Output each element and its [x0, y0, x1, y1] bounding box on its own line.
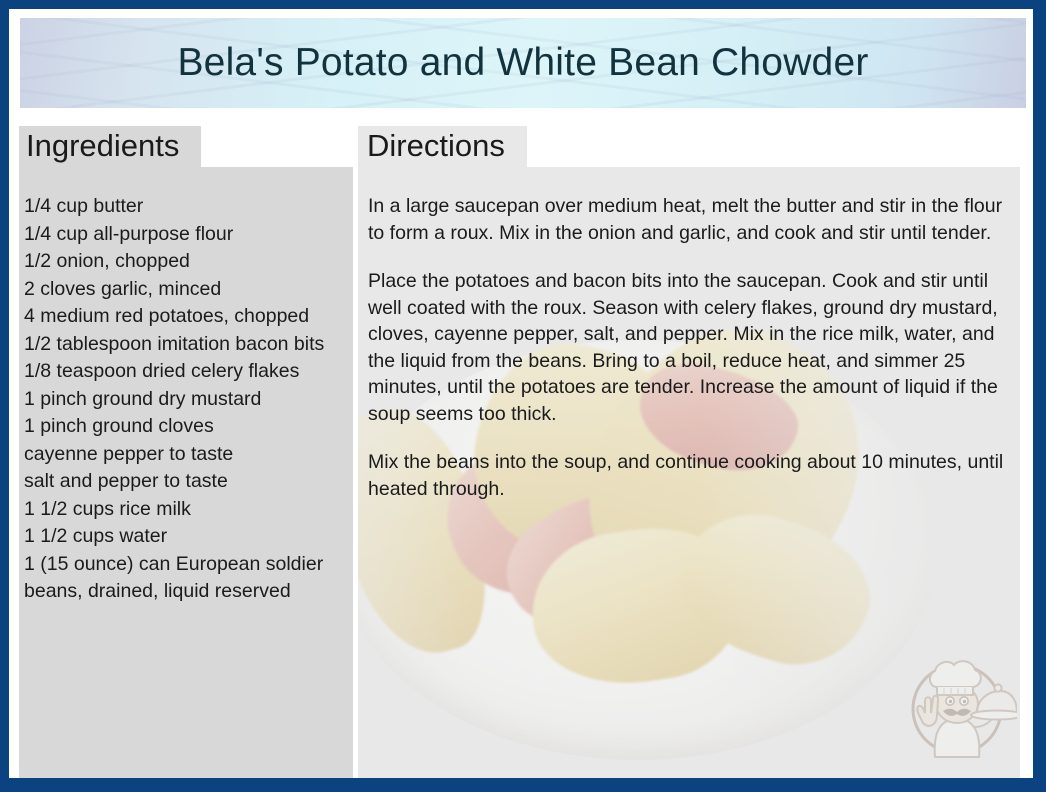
ingredient-item: 1/4 cup butter	[24, 193, 354, 221]
frame-border-right	[1033, 0, 1046, 792]
ingredients-panel: 1/4 cup butter1/4 cup all-purpose flour1…	[19, 167, 353, 778]
ingredient-item: 1 pinch ground dry mustard	[24, 386, 354, 414]
ingredient-item: 1 1/2 cups rice milk	[24, 496, 354, 524]
ingredients-heading: Ingredients	[26, 125, 179, 166]
ingredient-item: 1 pinch ground cloves	[24, 413, 354, 441]
ingredient-item: cayenne pepper to taste	[24, 441, 354, 469]
page-title: Bela's Potato and White Bean Chowder	[177, 43, 868, 84]
recipe-card: Bela's Potato and White Bean Chowder Ing…	[0, 0, 1046, 792]
frame-border-left	[0, 0, 9, 792]
ingredient-item: 1/8 teaspoon dried celery flakes	[24, 358, 354, 386]
ingredient-item: 4 medium red potatoes, chopped	[24, 303, 354, 331]
ingredient-item: 1/2 tablespoon imitation bacon bits	[24, 331, 354, 359]
ingredient-item: 1/4 cup all-purpose flour	[24, 221, 354, 249]
ingredient-item: 2 cloves garlic, minced	[24, 276, 354, 304]
frame-border-top	[0, 0, 1046, 9]
frame-border-bottom	[0, 778, 1046, 792]
ingredients-list: 1/4 cup butter1/4 cup all-purpose flour1…	[24, 193, 354, 606]
direction-step: Place the potatoes and bacon bits into t…	[368, 268, 1016, 427]
directions-steps: In a large saucepan over medium heat, me…	[368, 193, 1016, 502]
ingredients-header: Ingredients	[19, 126, 201, 167]
directions-header: Directions	[358, 126, 527, 167]
ingredient-item: 1/2 onion, chopped	[24, 248, 354, 276]
direction-step: Mix the beans into the soup, and continu…	[368, 449, 1016, 502]
ingredient-item: salt and pepper to taste	[24, 468, 354, 496]
directions-heading: Directions	[367, 125, 505, 166]
title-banner: Bela's Potato and White Bean Chowder	[20, 18, 1026, 108]
ingredient-item: 1 (15 ounce) can European soldier beans,…	[24, 551, 354, 606]
ingredient-item: 1 1/2 cups water	[24, 523, 354, 551]
direction-step: In a large saucepan over medium heat, me…	[368, 193, 1016, 246]
